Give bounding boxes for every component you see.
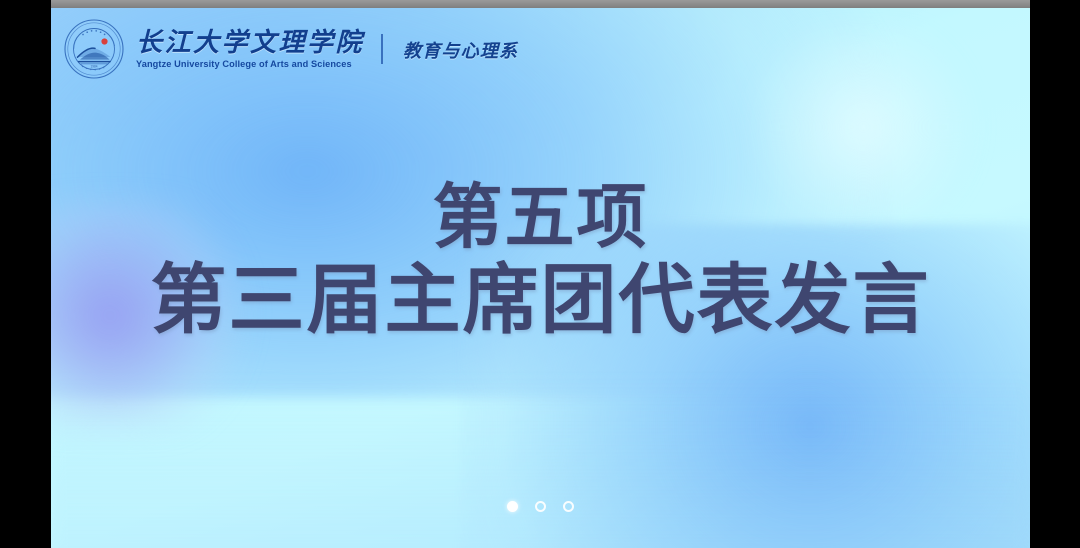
slide-viewport: 1984 长江大学文理学院 Yangtze University College… — [0, 0, 1080, 548]
slide-title-block: 第五项 第三届主席团代表发言 — [51, 180, 1030, 341]
university-wordmark: 长江大学文理学院 Yangtze University College of A… — [136, 28, 364, 69]
university-name-en: Yangtze University College of Arts and S… — [136, 60, 357, 70]
presentation-slide: 1984 长江大学文理学院 Yangtze University College… — [51, 8, 1030, 548]
letterbox-left-bar — [0, 0, 51, 548]
slide-title-line-1: 第五项 — [51, 180, 1030, 254]
letterbox-right-bar — [1030, 0, 1080, 548]
pagination-dot-3[interactable] — [563, 501, 574, 512]
pagination-dot-2[interactable] — [535, 501, 546, 512]
header-divider — [381, 34, 383, 64]
brand-header: 1984 长江大学文理学院 Yangtze University College… — [63, 18, 518, 80]
slide-pagination[interactable] — [51, 501, 1030, 512]
window-top-chrome-bar — [51, 0, 1030, 8]
svg-text:1984: 1984 — [90, 65, 97, 69]
university-name-cn: 长江大学文理学院 — [136, 30, 364, 57]
slide-title-line-2: 第三届主席团代表发言 — [51, 260, 1030, 341]
department-name: 教育与心理系 — [403, 35, 518, 63]
university-seal-emblem: 1984 — [63, 18, 125, 80]
pagination-dot-1[interactable] — [507, 501, 518, 512]
